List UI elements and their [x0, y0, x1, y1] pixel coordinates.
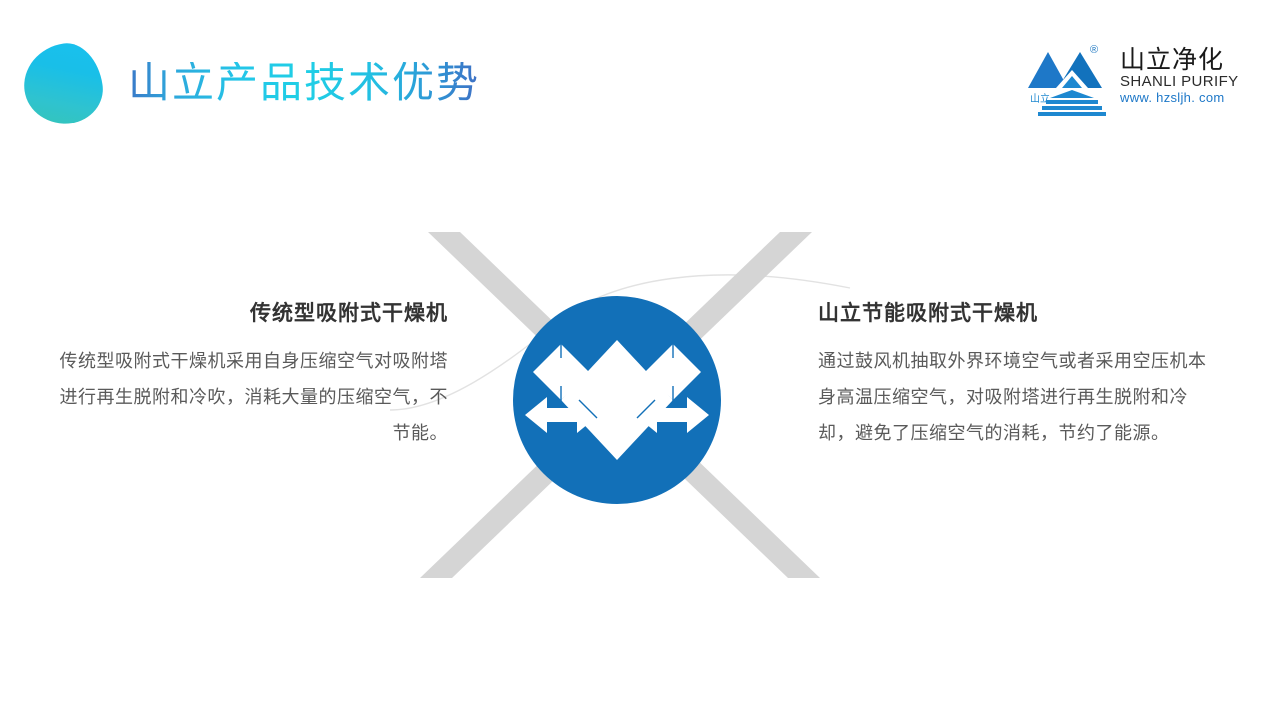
- logo-text-block: 山立净化 SHANLI PURIFY www. hzsljh. com: [1120, 46, 1250, 106]
- registered-trademark-icon: ®: [1090, 44, 1098, 56]
- column-body-traditional: 传统型吸附式干燥机采用自身压缩空气对吸附塔进行再生脱附和冷吹，消耗大量的压缩空气…: [52, 344, 448, 452]
- diamonds-and-arrows-icon: [513, 296, 721, 504]
- slide-header: 山立产品技术优势 ® 山立 山立净: [0, 0, 1280, 150]
- slide-root: 山立产品技术优势 ® 山立 山立净: [0, 0, 1280, 720]
- mountain-triangles-icon: [1028, 46, 1116, 118]
- logo-mark-label: 山立: [1030, 90, 1050, 105]
- logo-website: www. hzsljh. com: [1120, 90, 1250, 106]
- center-graphic: [380, 210, 860, 610]
- column-traditional: 传统型吸附式干燥机 传统型吸附式干燥机采用自身压缩空气对吸附塔进行再生脱附和冷吹…: [52, 300, 448, 452]
- logo-company-cn: 山立净化: [1120, 46, 1250, 73]
- column-title-traditional: 传统型吸附式干燥机: [52, 300, 448, 326]
- center-circle: [513, 296, 721, 504]
- column-body-shanli: 通过鼓风机抽取外界环境空气或者采用空压机本身高温压缩空气，对吸附塔进行再生脱附和…: [818, 344, 1214, 452]
- column-title-shanli: 山立节能吸附式干燥机: [818, 300, 1214, 326]
- company-logo: ® 山立 山立净化 SHANLI PURIFY www. hzsljh. com: [1028, 42, 1246, 122]
- page-title: 山立产品技术优势: [128, 62, 480, 104]
- blob-shape-icon: [19, 39, 107, 129]
- column-shanli: 山立节能吸附式干燥机 通过鼓风机抽取外界环境空气或者采用空压机本身高温压缩空气，…: [818, 300, 1214, 452]
- logo-company-en: SHANLI PURIFY: [1120, 73, 1250, 90]
